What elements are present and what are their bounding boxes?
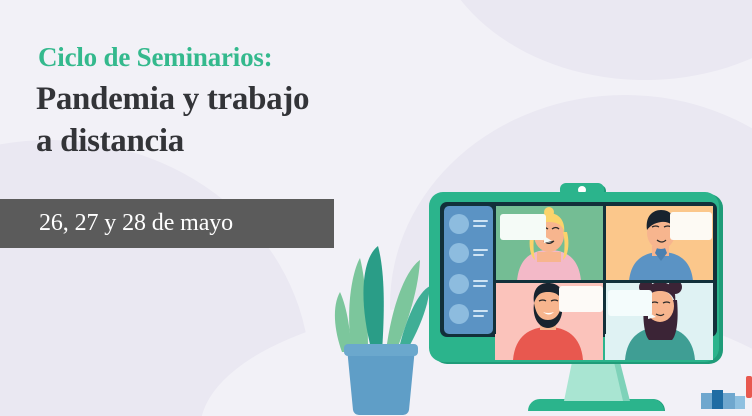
poster-root: Ciclo de Seminarios: Pandemia y trabajo … (0, 0, 752, 416)
red-accent-shape (746, 376, 752, 398)
page-title: Pandemia y trabajo a distancia (36, 79, 309, 162)
video-tile-top-right (605, 206, 713, 281)
eyebrow-text: Ciclo de Seminarios: (38, 42, 272, 73)
date-banner: 26, 27 y 28 de mayo (0, 199, 334, 248)
video-tile-top-left (495, 206, 603, 281)
potted-plant (335, 246, 430, 415)
desk-books (701, 390, 745, 409)
date-banner-text: 26, 27 y 28 de mayo (0, 210, 233, 237)
participants-sidebar (444, 206, 493, 334)
video-tile-bottom-left (495, 283, 603, 360)
video-tile-bottom-right (605, 280, 713, 360)
